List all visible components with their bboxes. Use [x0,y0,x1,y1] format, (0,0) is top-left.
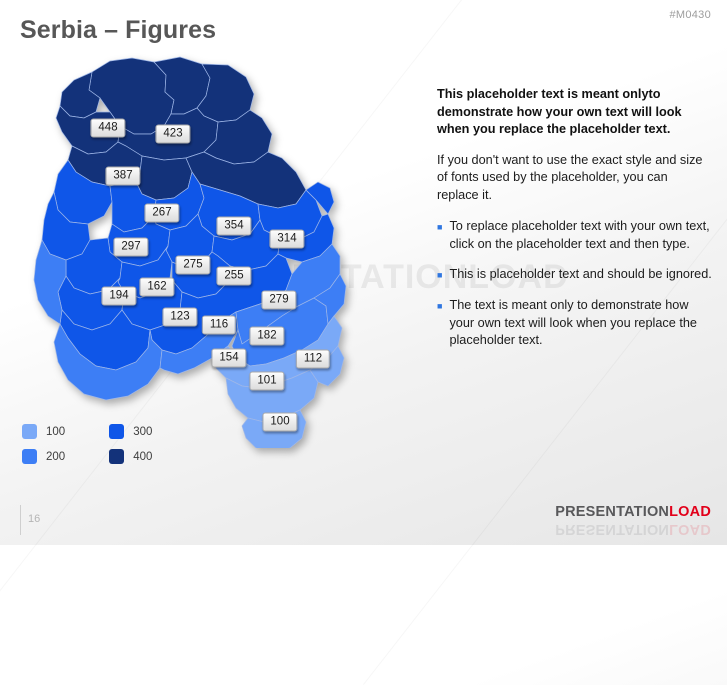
brand-reflection-accent: LOAD [669,521,711,537]
brand-reflection-primary: PRESENTATION [555,521,669,537]
bullet-marker-icon: ■ [437,297,442,350]
map-label: 255 [216,267,251,286]
legend-label: 300 [133,426,152,438]
brand-logo-reflection: PRESENTATIONLOAD [555,521,711,537]
bullet-item[interactable]: ■ To replace placeholder text with your … [437,218,712,253]
legend-item-300: 300 [109,424,152,439]
map-label: 279 [261,291,296,310]
map-label: 275 [175,256,210,275]
legend-label: 100 [46,426,65,438]
map-label: 123 [162,308,197,327]
intro-paragraph[interactable]: This placeholder text is meant onlyto de… [437,86,712,139]
legend-swatch-icon [109,424,124,439]
map-label: 314 [269,230,304,249]
bullet-marker-icon: ■ [437,266,442,284]
bullet-text: The text is meant only to demonstrate ho… [449,297,712,350]
legend-item-400: 400 [109,449,152,464]
map-label: 101 [249,372,284,391]
text-panel: This placeholder text is meant onlyto de… [437,86,712,363]
legend-swatch-icon [109,449,124,464]
map-label: 354 [216,217,251,236]
map-label: 448 [90,119,125,138]
footer-divider [20,505,21,535]
legend-label: 200 [46,451,65,463]
page-number: 16 [28,513,40,525]
document-code: #M0430 [669,9,711,21]
bullet-text: To replace placeholder text with your ow… [449,218,712,253]
bullet-item[interactable]: ■ The text is meant only to demonstrate … [437,297,712,350]
map-label: 154 [211,349,246,368]
map-label: 297 [113,238,148,257]
serbia-map[interactable]: 448 423 387 267 354 297 314 275 255 162 … [14,48,354,448]
legend-item-100: 100 [22,424,65,439]
map-label: 387 [105,167,140,186]
map-label: 423 [155,125,190,144]
map-legend: 100 300 200 400 [22,424,152,464]
legend-label: 400 [133,451,152,463]
map-label: 267 [144,204,179,223]
brand-logo-primary: PRESENTATION [555,504,669,520]
legend-swatch-icon [22,424,37,439]
legend-swatch-icon [22,449,37,464]
body-paragraph[interactable]: If you don't want to use the exact style… [437,152,712,205]
bullet-text: This is placeholder text and should be i… [449,266,711,284]
map-label: 194 [101,287,136,306]
bullet-marker-icon: ■ [437,218,442,253]
brand-logo-accent: LOAD [669,504,711,520]
legend-item-200: 200 [22,449,65,464]
map-label: 112 [296,350,330,369]
map-label: 162 [139,278,174,297]
map-label: 116 [202,316,236,335]
map-label: 100 [262,413,297,432]
bullet-item[interactable]: ■ This is placeholder text and should be… [437,266,712,284]
brand-logo: PRESENTATIONLOAD [555,504,711,520]
map-label: 182 [249,327,284,346]
page-title: Serbia – Figures [20,16,216,45]
